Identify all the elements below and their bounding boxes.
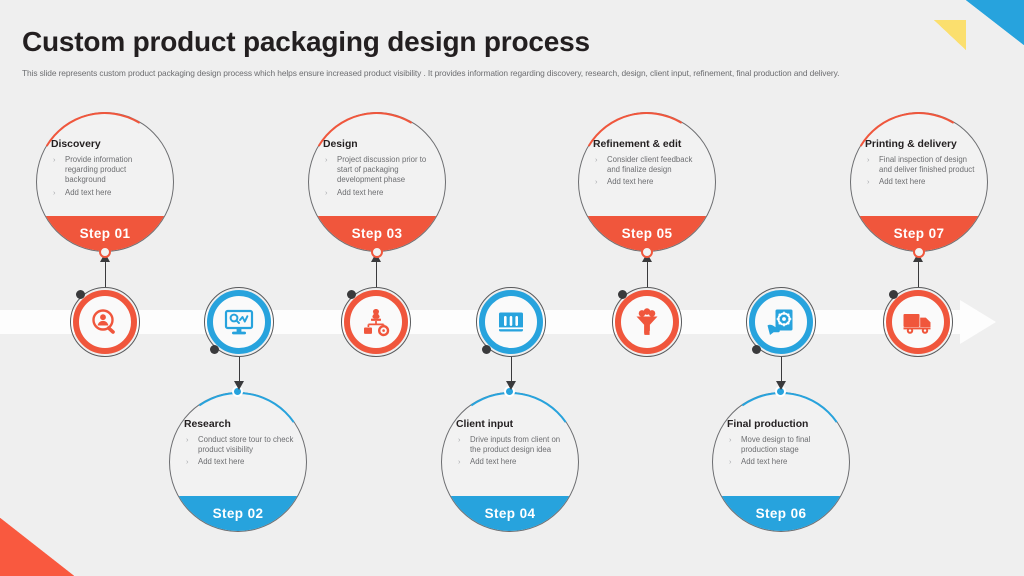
process-node-7[interactable] (883, 287, 953, 357)
step-heading: Refinement & edit (593, 139, 705, 150)
chevron-right-icon: › (458, 457, 460, 467)
node-connector-dot (618, 290, 627, 299)
step-bullet-text: Move design to final production stage (741, 435, 810, 454)
step-bullet: › Add text here (51, 188, 163, 198)
step-bullet-text: Conduct store tour to check product visi… (198, 435, 293, 454)
step-bullet: › Final inspection of design and deliver… (865, 155, 977, 175)
step-heading: Research (184, 419, 296, 430)
process-node-2[interactable] (204, 287, 274, 357)
step-card-6[interactable]: Final production › Move design to final … (712, 392, 850, 532)
node-connector-dot (76, 290, 85, 299)
step-bullet-text: Add text here (198, 457, 244, 466)
step-bullet: › Project discussion prior to start of p… (323, 155, 435, 186)
chevron-right-icon: › (325, 188, 327, 198)
chevron-right-icon: › (595, 155, 597, 165)
step-bullet: › Add text here (456, 457, 568, 467)
step-bullet: › Move design to final production stage (727, 435, 839, 455)
process-node-1[interactable] (70, 287, 140, 357)
chevron-right-icon: › (595, 177, 597, 187)
process-node-5[interactable] (612, 287, 682, 357)
step-card-body: Refinement & edit › Consider client feed… (593, 139, 705, 190)
step-bullet-list: › Drive inputs from client on the produc… (456, 435, 568, 468)
step-heading: Discovery (51, 139, 163, 150)
chevron-right-icon: › (729, 435, 731, 445)
card-notch-1 (99, 246, 111, 258)
step-bullet: › Add text here (865, 177, 977, 187)
step-card-body: Client input › Drive inputs from client … (456, 419, 568, 470)
process-arrow-head-icon (960, 300, 996, 344)
step-bullet-text: Project discussion prior to start of pac… (337, 155, 426, 184)
step-bullet: › Consider client feedback and finalize … (593, 155, 705, 175)
step-card-body: Research › Conduct store tour to check p… (184, 419, 296, 470)
step-heading: Final production (727, 419, 839, 430)
package-box-icon (494, 305, 528, 339)
step-bullet-text: Add text here (741, 457, 787, 466)
step-bullet-text: Provide information regarding product ba… (65, 155, 132, 184)
chevron-right-icon: › (867, 177, 869, 187)
step-bullet-text: Add text here (879, 177, 925, 186)
chevron-right-icon: › (53, 188, 55, 198)
red-triangle-icon (0, 518, 74, 576)
chevron-right-icon: › (729, 457, 731, 467)
step-card-4[interactable]: Client input › Drive inputs from client … (441, 392, 579, 532)
process-node-3[interactable] (341, 287, 411, 357)
step-bullet: › Provide information regarding product … (51, 155, 163, 186)
step-bullet-text: Add text here (65, 188, 111, 197)
person-magnifier-icon (88, 305, 122, 339)
step-bullet: › Drive inputs from client on the produc… (456, 435, 568, 455)
monitor-analytics-icon (222, 305, 256, 339)
node-connector-dot (482, 345, 491, 354)
step-card-7[interactable]: Printing & delivery › Final inspection o… (850, 112, 988, 252)
page-subtitle: This slide represents custom product pac… (22, 68, 990, 78)
step-bullet: › Add text here (323, 188, 435, 198)
step-bullet-text: Add text here (470, 457, 516, 466)
step-heading: Design (323, 139, 435, 150)
chevron-right-icon: › (867, 155, 869, 165)
step-bullet-text: Consider client feedback and finalize de… (607, 155, 692, 174)
chevron-right-icon: › (325, 155, 327, 165)
step-badge: Step 06 (713, 496, 849, 531)
step-bullet: › Add text here (184, 457, 296, 467)
step-card-body: Final production › Move design to final … (727, 419, 839, 470)
node-connector-dot (752, 345, 761, 354)
chevron-right-icon: › (186, 435, 188, 445)
node-connector-dot (347, 290, 356, 299)
card-notch-7 (913, 246, 925, 258)
step-bullet-list: › Final inspection of design and deliver… (865, 155, 977, 188)
step-badge: Step 02 (170, 496, 306, 531)
page-title: Custom product packaging design process (22, 26, 590, 58)
step-bullet-text: Drive inputs from client on the product … (470, 435, 560, 454)
node-connector-dot (889, 290, 898, 299)
step-card-body: Printing & delivery › Final inspection o… (865, 139, 977, 190)
delivery-truck-icon (901, 305, 935, 339)
slide-canvas: Custom product packaging design process … (0, 0, 1024, 576)
process-node-4[interactable] (476, 287, 546, 357)
chevron-right-icon: › (186, 457, 188, 467)
step-heading: Client input (456, 419, 568, 430)
step-bullet-text: Final inspection of design and deliver f… (879, 155, 974, 174)
step-bullet-list: › Project discussion prior to start of p… (323, 155, 435, 198)
step-card-5[interactable]: Refinement & edit › Consider client feed… (578, 112, 716, 252)
step-bullet-list: › Move design to final production stage … (727, 435, 839, 468)
yellow-triangle-icon (934, 20, 966, 50)
step-bullet-list: › Conduct store tour to check product vi… (184, 435, 296, 468)
step-bullet-list: › Provide information regarding product … (51, 155, 163, 198)
chevron-right-icon: › (458, 435, 460, 445)
step-bullet: › Add text here (727, 457, 839, 467)
step-card-body: Design › Project discussion prior to sta… (323, 139, 435, 200)
step-bullet: › Add text here (593, 177, 705, 187)
step-heading: Printing & delivery (865, 139, 977, 150)
step-bullet-list: › Consider client feedback and finalize … (593, 155, 705, 188)
step-bullet-text: Add text here (607, 177, 653, 186)
step-card-3[interactable]: Design › Project discussion prior to sta… (308, 112, 446, 252)
blue-triangle-icon (966, 0, 1024, 45)
hand-document-gear-icon (764, 305, 798, 339)
step-bullet-text: Add text here (337, 188, 383, 197)
step-bullet: › Conduct store tour to check product vi… (184, 435, 296, 455)
step-badge: Step 04 (442, 496, 578, 531)
strategy-gear-icon (359, 305, 393, 339)
funnel-filter-icon (630, 305, 664, 339)
step-card-2[interactable]: Research › Conduct store tour to check p… (169, 392, 307, 532)
card-notch-5 (641, 246, 653, 258)
process-node-6[interactable] (746, 287, 816, 357)
chevron-right-icon: › (53, 155, 55, 165)
step-card-1[interactable]: Discovery › Provide information regardin… (36, 112, 174, 252)
node-connector-dot (210, 345, 219, 354)
step-card-body: Discovery › Provide information regardin… (51, 139, 163, 200)
card-notch-3 (371, 246, 383, 258)
